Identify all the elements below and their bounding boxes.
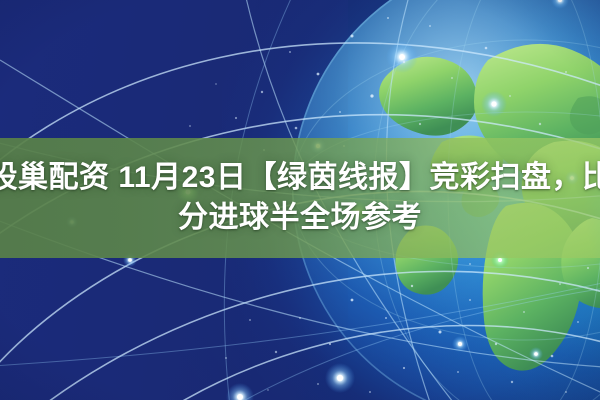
title-line-1: 股巢配资 11月23日【绿茵线报】竞彩扫盘，比 <box>0 158 600 198</box>
page-title: 股巢配资 11月23日【绿茵线报】竞彩扫盘，比 分进球半全场参考 <box>0 138 600 258</box>
banner-image: 股巢配资 11月23日【绿茵线报】竞彩扫盘，比 分进球半全场参考 <box>0 0 600 400</box>
title-line-2: 分进球半全场参考 <box>178 198 422 238</box>
